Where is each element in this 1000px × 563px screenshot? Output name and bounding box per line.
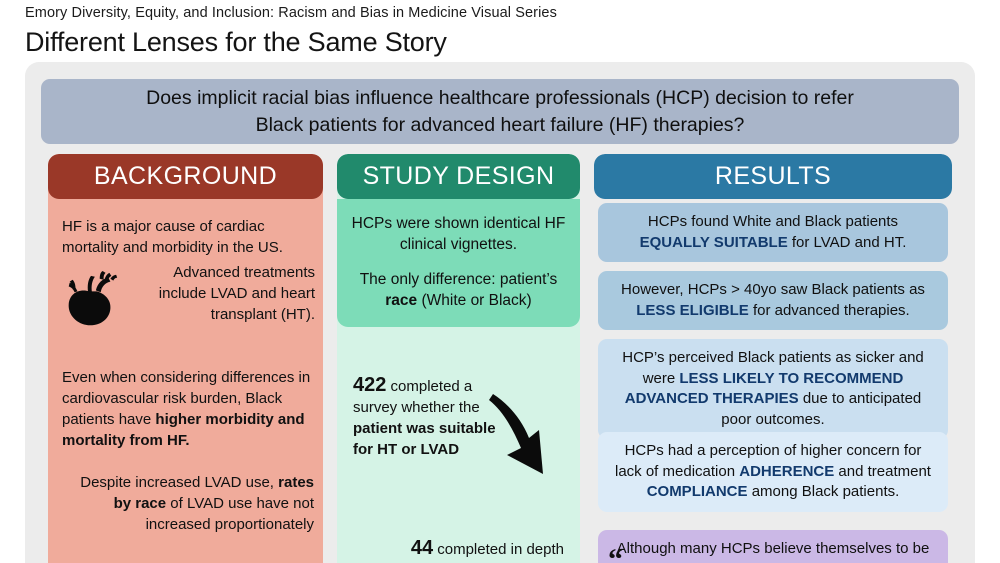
result-1-highlight: EQUALLY SUITABLE xyxy=(640,234,788,251)
question-line-2: Black patients for advanced heart failur… xyxy=(256,114,745,136)
background-paragraph-3: Even when considering differences in car… xyxy=(62,367,314,451)
background-p4-plain-1: Despite increased LVAD use, xyxy=(80,474,278,491)
stat-44-plain: completed in depth interviews to evaluat… xyxy=(420,541,564,563)
result-5-plain-1: Although many HCPs believe themselves to… xyxy=(617,540,930,563)
study-design-line-1: HCPs were shown identical HF clinical vi… xyxy=(347,213,570,255)
study-design-inner-card: HCPs were shown identical HF clinical vi… xyxy=(337,199,580,327)
result-card-1: HCPs found White and Black patients EQUA… xyxy=(598,203,948,262)
result-card-4: HCPs had a perception of higher concern … xyxy=(598,432,948,512)
poster-body: Does implicit racial bias influence heal… xyxy=(25,62,975,563)
study-design-line-2-plain-1: The only difference: patient’s xyxy=(360,271,558,288)
result-2-plain-1: However, HCPs > 40yo saw Black patients … xyxy=(621,281,925,298)
background-treatments-row: Advanced treatments include LVAD and hea… xyxy=(60,262,315,337)
series-label: Emory Diversity, Equity, and Inclusion: … xyxy=(25,4,975,22)
curved-arrow-icon xyxy=(487,390,565,483)
column-study-design: STUDY DESIGN HCPs were shown identical H… xyxy=(337,154,580,563)
poster-page: Emory Diversity, Equity, and Inclusion: … xyxy=(0,0,1000,563)
result-4-plain-3: among Black patients. xyxy=(748,483,900,500)
study-design-line-2-plain-2: (White or Black) xyxy=(417,292,532,309)
result-card-3: HCP’s perceived Black patients as sicker… xyxy=(598,339,948,439)
result-4-highlight-2: COMPLIANCE xyxy=(647,483,748,500)
stat-44-number: 44 xyxy=(411,537,433,559)
background-paragraph-1: HF is a major cause of cardiac mortality… xyxy=(62,216,312,258)
result-card-5: “ Although many HCPs believe themselves … xyxy=(598,530,948,563)
background-p4-plain-2: of LVAD use have not increased proportio… xyxy=(146,495,314,533)
background-paragraph-4: Despite increased LVAD use, rates by rac… xyxy=(62,472,314,535)
page-header: Emory Diversity, Equity, and Inclusion: … xyxy=(25,4,975,59)
study-design-line-2: The only difference: patient’s race (Whi… xyxy=(347,269,570,311)
result-2-plain-2: for advanced therapies. xyxy=(749,302,910,319)
research-question-text: Does implicit racial bias influence heal… xyxy=(132,85,868,139)
columns-container: BACKGROUND HF is a major cause of cardia… xyxy=(41,154,959,563)
background-paragraph-2: Advanced treatments include LVAD and hea… xyxy=(134,262,315,325)
result-1-plain-2: for LVAD and HT. xyxy=(788,234,907,251)
background-heading: BACKGROUND xyxy=(48,154,323,199)
result-card-2: However, HCPs > 40yo saw Black patients … xyxy=(598,271,948,330)
stat-422: 422 completed a survey whether the patie… xyxy=(353,375,503,460)
result-1-plain-1: HCPs found White and Black patients xyxy=(648,213,898,230)
result-2-highlight: LESS ELIGIBLE xyxy=(636,302,749,319)
result-4-plain-2: and treatment xyxy=(834,463,931,480)
study-design-line-2-bold: race xyxy=(385,292,417,309)
question-line-1: Does implicit racial bias influence heal… xyxy=(146,87,854,109)
quotation-mark-icon: “ xyxy=(608,550,623,563)
result-4-highlight-1: ADHERENCE xyxy=(739,463,834,480)
study-design-heading: STUDY DESIGN xyxy=(337,154,580,199)
stat-422-number: 422 xyxy=(353,374,386,396)
research-question-banner: Does implicit racial bias influence heal… xyxy=(41,79,959,144)
stat-44: 44 completed in depth interviews to eval… xyxy=(397,538,564,563)
anatomical-heart-icon xyxy=(60,262,134,337)
stat-422-bold: patient was suitable for HT or LVAD xyxy=(353,420,496,458)
page-title: Different Lenses for the Same Story xyxy=(25,25,975,59)
column-results: RESULTS HCPs found White and Black patie… xyxy=(594,154,952,563)
results-heading: RESULTS xyxy=(594,154,952,199)
column-background: BACKGROUND HF is a major cause of cardia… xyxy=(48,154,323,563)
